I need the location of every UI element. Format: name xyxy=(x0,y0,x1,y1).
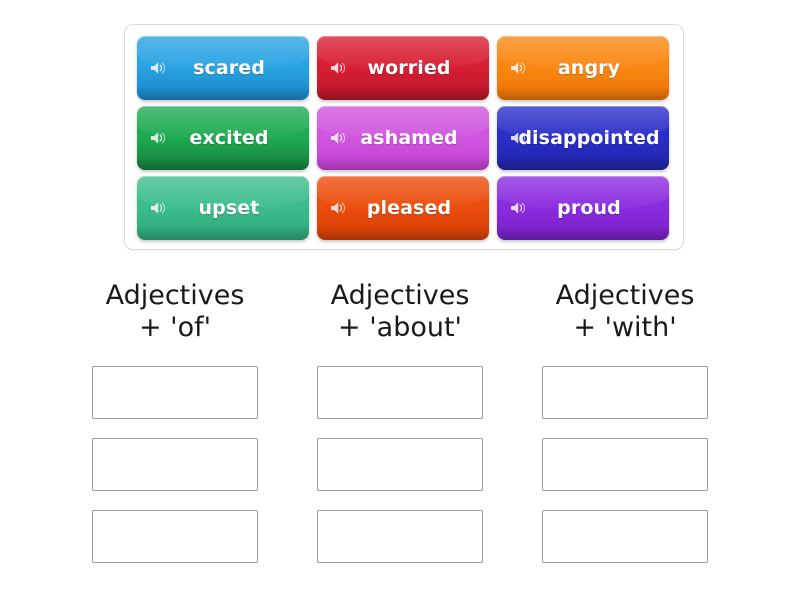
word-tile-excited[interactable]: excited xyxy=(137,106,309,170)
word-tile-upset[interactable]: upset xyxy=(137,176,309,240)
category-columns: Adjectives + 'of'Adjectives + 'about'Adj… xyxy=(92,280,708,563)
dropzone[interactable] xyxy=(317,366,483,419)
word-tile-label: angry xyxy=(540,57,626,79)
word-tile-ashamed[interactable]: ashamed xyxy=(317,106,489,170)
category-title: Adjectives + 'with' xyxy=(542,280,708,344)
category-title: Adjectives + 'about' xyxy=(317,280,483,344)
word-tile-cell: ashamed xyxy=(313,103,493,173)
activity-stage: scaredworriedangryexcitedashameddisappoi… xyxy=(0,0,800,600)
dropzone[interactable] xyxy=(92,510,258,563)
dropzone[interactable] xyxy=(92,366,258,419)
word-tile-tray: scaredworriedangryexcitedashameddisappoi… xyxy=(124,24,684,250)
dropzone[interactable] xyxy=(542,510,708,563)
word-tile-cell: scared xyxy=(133,33,313,103)
word-tile-label: proud xyxy=(539,197,627,219)
word-tile-pleased[interactable]: pleased xyxy=(317,176,489,240)
word-tile-label: pleased xyxy=(349,197,457,219)
word-tile-cell: disappointed xyxy=(493,103,673,173)
dropzone[interactable] xyxy=(92,438,258,491)
word-tile-label: excited xyxy=(171,127,274,149)
word-tile-cell: pleased xyxy=(313,173,493,243)
speaker-icon[interactable] xyxy=(329,60,347,76)
speaker-icon[interactable] xyxy=(509,130,527,146)
word-tile-label: worried xyxy=(349,57,456,79)
dropzone[interactable] xyxy=(542,438,708,491)
category-title: Adjectives + 'of' xyxy=(92,280,258,344)
word-tile-scared[interactable]: scared xyxy=(137,36,309,100)
word-tile-angry[interactable]: angry xyxy=(497,36,669,100)
word-tile-label: ashamed xyxy=(342,127,463,149)
word-tile-proud[interactable]: proud xyxy=(497,176,669,240)
word-tile-cell: excited xyxy=(133,103,313,173)
word-tile-disappointed[interactable]: disappointed xyxy=(497,106,669,170)
word-tile-label: scared xyxy=(175,57,271,79)
speaker-icon[interactable] xyxy=(149,200,167,216)
category-column-0: Adjectives + 'of' xyxy=(92,280,258,563)
word-tile-label: upset xyxy=(181,197,266,219)
speaker-icon[interactable] xyxy=(149,130,167,146)
word-tile-worried[interactable]: worried xyxy=(317,36,489,100)
dropzone[interactable] xyxy=(317,438,483,491)
word-tile-cell: worried xyxy=(313,33,493,103)
word-tile-cell: proud xyxy=(493,173,673,243)
speaker-icon[interactable] xyxy=(329,200,347,216)
speaker-icon[interactable] xyxy=(509,200,527,216)
category-column-1: Adjectives + 'about' xyxy=(317,280,483,563)
word-tile-cell: angry xyxy=(493,33,673,103)
word-tile-cell: upset xyxy=(133,173,313,243)
speaker-icon[interactable] xyxy=(509,60,527,76)
speaker-icon[interactable] xyxy=(329,130,347,146)
dropzone[interactable] xyxy=(317,510,483,563)
category-column-2: Adjectives + 'with' xyxy=(542,280,708,563)
speaker-icon[interactable] xyxy=(149,60,167,76)
dropzone[interactable] xyxy=(542,366,708,419)
